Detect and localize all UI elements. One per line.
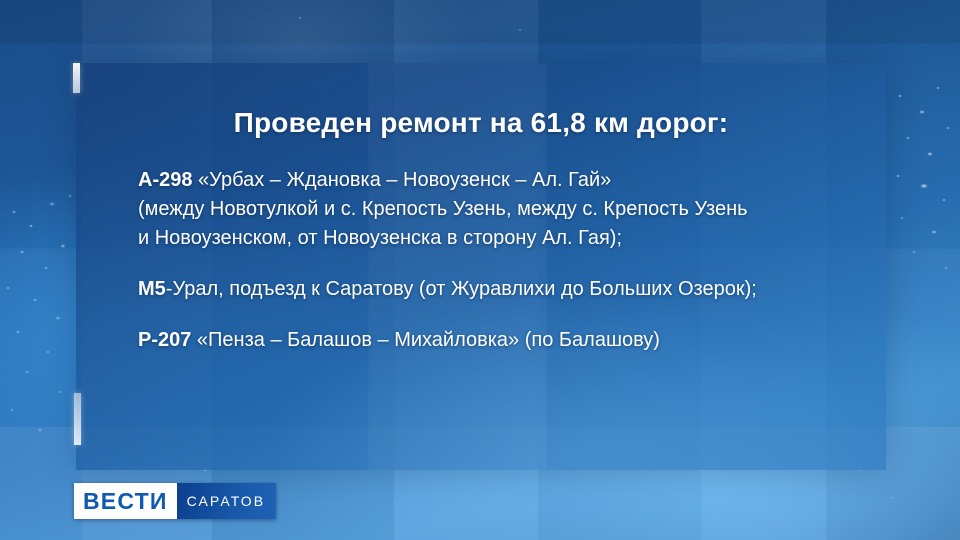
broadcast-graphic: Проведен ремонт на 61,8 км дорог: А-298 …	[0, 0, 960, 540]
info-panel: Проведен ремонт на 61,8 км дорог: А-298 …	[76, 63, 886, 470]
panel-title: Проведен ремонт на 61,8 км дорог:	[76, 107, 886, 139]
road-description: «Пенза – Балашов – Михайловка» (по Балаш…	[191, 329, 660, 351]
road-code: М5	[138, 278, 166, 300]
road-entry-list: А-298 «Урбах – Ждановка – Новоузенск – А…	[138, 166, 852, 355]
accent-bar-bottom	[74, 393, 81, 445]
channel-logo: ВЕСТИ САРАТОВ	[74, 483, 276, 519]
road-entry: Р-207 «Пенза – Балашов – Михайловка» (по…	[138, 326, 852, 355]
road-entry-line: (между Новотулкой и с. Крепость Узень, м…	[138, 195, 852, 224]
road-description: «Урбах – Ждановка – Новоузенск – Ал. Гай…	[192, 169, 611, 191]
road-entry-line: Р-207 «Пенза – Балашов – Михайловка» (по…	[138, 326, 852, 355]
road-entry-line: А-298 «Урбах – Ждановка – Новоузенск – А…	[138, 166, 852, 195]
road-code: А-298	[138, 169, 192, 191]
road-entry-line: и Новоузенском, от Новоузенска в сторону…	[138, 224, 852, 253]
road-entry-line: М5-Урал, подъезд к Саратову (от Журавлих…	[138, 275, 852, 304]
accent-bar-top	[73, 63, 80, 93]
road-entry: А-298 «Урбах – Ждановка – Новоузенск – А…	[138, 166, 852, 253]
logo-brand-text: ВЕСТИ	[74, 483, 177, 519]
road-entry: М5-Урал, подъезд к Саратову (от Журавлих…	[138, 275, 852, 304]
road-code: Р-207	[138, 329, 191, 351]
logo-region-text: САРАТОВ	[177, 483, 277, 519]
road-description: -Урал, подъезд к Саратову (от Журавлихи …	[166, 278, 757, 300]
